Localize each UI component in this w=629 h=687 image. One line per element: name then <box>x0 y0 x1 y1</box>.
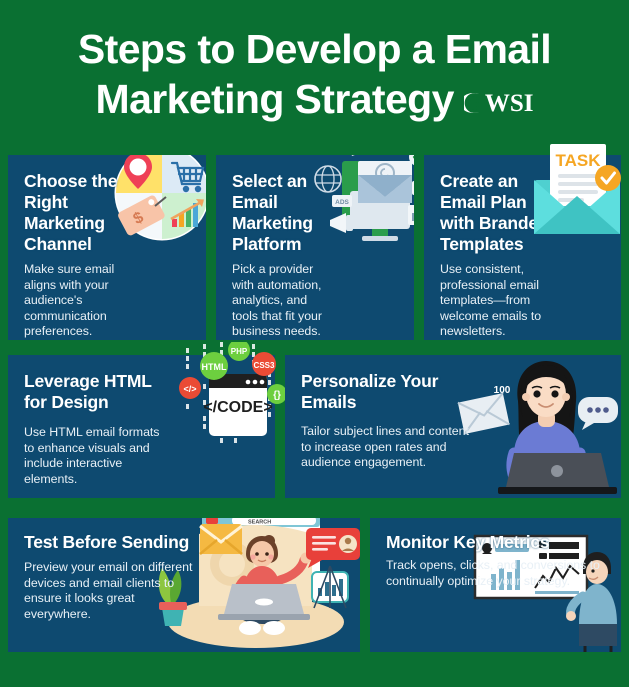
card-body: Use HTML email formats to enhance visual… <box>24 425 165 487</box>
card-content: Choose the Right Marketing Channel Make … <box>8 155 206 340</box>
card-row-2: Leverage HTML for Design Use HTML email … <box>8 355 621 498</box>
card-email-plan-templates[interactable]: Create an Email Plan with Branded Templa… <box>424 155 621 340</box>
card-title: Monitor Key Metrics <box>386 532 615 553</box>
card-title: Select an Email Marketing Platform <box>232 171 336 255</box>
card-title: Personalize Your Emails <box>301 371 471 413</box>
page-title-line-1: Steps to Develop a Email <box>18 24 611 74</box>
card-leverage-html[interactable]: Leverage HTML for Design Use HTML email … <box>8 355 275 498</box>
page-title-line-2: Marketing Strategy <box>96 74 454 124</box>
card-row-1: $ Choose the Right Marketing Channel Mak… <box>8 155 621 340</box>
wsi-logo: WSI <box>464 91 534 116</box>
card-personalize-emails[interactable]: 100 <box>285 355 621 498</box>
card-content: Create an Email Plan with Branded Templa… <box>424 155 621 340</box>
page-title-line-2-row: Marketing Strategy WSI <box>18 74 611 124</box>
card-content: Select an Email Marketing Platform Pick … <box>216 155 414 340</box>
card-title: Test Before Sending <box>24 532 200 553</box>
card-body: Track opens, clicks, and conversions to … <box>386 558 615 589</box>
card-title: Choose the Right Marketing Channel <box>24 171 126 255</box>
globe-icon <box>464 92 484 114</box>
card-monitor-metrics[interactable]: Monitor Key Metrics Track opens, clicks,… <box>370 518 621 652</box>
header: Steps to Develop a Email Marketing Strat… <box>0 0 629 130</box>
card-title: Leverage HTML for Design <box>24 371 165 413</box>
card-content: Leverage HTML for Design Use HTML email … <box>8 355 275 497</box>
card-body: Tailor subject lines and content to incr… <box>301 424 471 471</box>
card-test-before-sending[interactable]: SEARCH <box>8 518 360 652</box>
card-body: Use consistent, professional email templ… <box>440 262 549 340</box>
card-content: Personalize Your Emails Tailor subject l… <box>285 355 621 481</box>
card-row-3: SEARCH <box>8 518 621 652</box>
card-title: Create an Email Plan with Branded Templa… <box>440 171 549 255</box>
wsi-logo-text: WSI <box>485 91 534 116</box>
card-content: Monitor Key Metrics Track opens, clicks,… <box>370 518 621 599</box>
card-select-platform[interactable]: ADS Select an Email Marketing Platform P… <box>216 155 414 340</box>
card-body: Make sure email aligns with your audienc… <box>24 262 126 340</box>
infographic-root: Steps to Develop a Email Marketing Strat… <box>0 0 629 687</box>
card-body: Preview your email on different devices … <box>24 560 200 622</box>
card-body: Pick a provider with automation, analyti… <box>232 262 336 340</box>
card-content: Test Before Sending Preview your email o… <box>8 518 360 632</box>
card-choose-channel[interactable]: $ Choose the Right Marketing Channel Mak… <box>8 155 206 340</box>
